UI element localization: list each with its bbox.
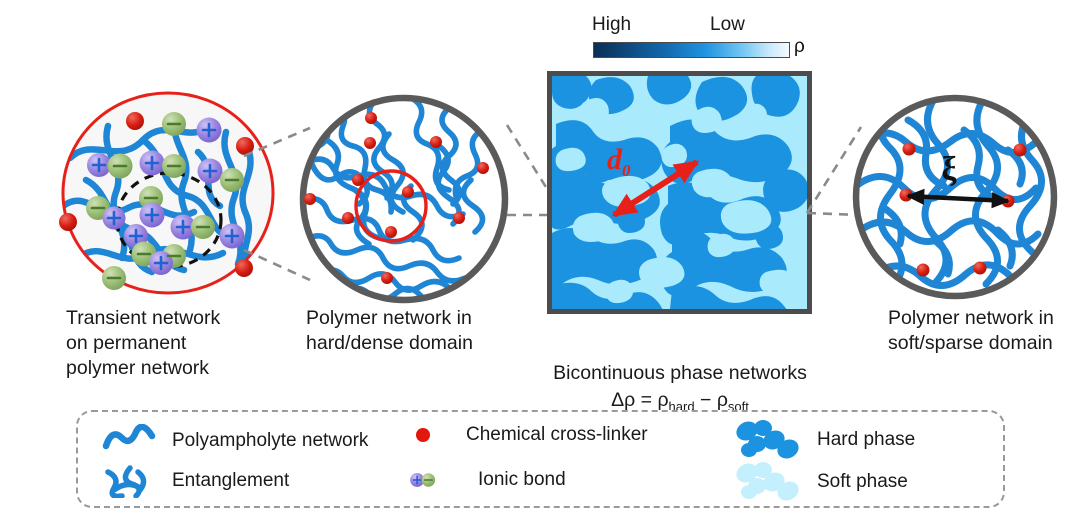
caption-transient-network: Transient network on permanent polymer n…	[66, 306, 220, 381]
legend-label-crosslinker: Chemical cross-linker	[466, 424, 648, 446]
soft-phase-blob-icon	[733, 460, 803, 504]
soft-domain-illustration: ξ	[848, 90, 1066, 308]
xi-mesh-symbol: ξ	[941, 151, 957, 188]
legend-label-ionic-bond: Ionic bond	[478, 469, 566, 491]
legend-item-entanglement: Entanglement	[100, 464, 289, 498]
legend-label-polyampholyte: Polyampholyte network	[172, 430, 368, 452]
colorbar-high-label: High	[592, 14, 631, 36]
legend-item-polyampholyte-network: Polyampholyte network	[100, 424, 368, 458]
hard-phase-blob-icon	[733, 418, 803, 462]
legend-box: Polyampholyte network Entanglement Ch	[76, 410, 1005, 508]
colorbar-rho-symbol: ρ	[794, 36, 805, 58]
panel-bicontinuous-phase	[547, 71, 812, 314]
polymer-chain-icon	[100, 424, 158, 458]
legend-label-hard-phase: Hard phase	[817, 429, 915, 451]
colorbar-low-label: Low	[710, 14, 745, 36]
diagram-canvas: High Low ρ	[0, 0, 1080, 531]
legend-item-ionic-bond: Ionic bond	[408, 464, 566, 496]
d0-distance-label: d0	[607, 143, 631, 181]
legend-item-soft-phase: Soft phase	[733, 460, 908, 504]
legend-item-chemical-cross-linker: Chemical cross-linker	[408, 424, 648, 446]
entanglement-icon	[100, 464, 158, 498]
legend-label-soft-phase: Soft phase	[817, 471, 908, 493]
panel-soft-sparse-domain: ξ	[848, 90, 1066, 308]
panel-hard-dense-domain	[293, 90, 515, 312]
legend-item-hard-phase: Hard phase	[733, 418, 915, 462]
bicontinuous-title: Bicontinuous phase networks	[553, 362, 807, 384]
ionic-bond-icon	[408, 464, 438, 496]
legend-label-entanglement: Entanglement	[172, 470, 289, 492]
caption-soft-sparse-domain: Polymer network in soft/sparse domain	[888, 306, 1054, 356]
hard-domain-illustration	[293, 90, 515, 312]
bicontinuous-phase-map	[552, 76, 807, 309]
red-dot-icon	[408, 428, 438, 442]
density-colorbar: High Low ρ	[592, 14, 807, 64]
caption-hard-dense-domain: Polymer network in hard/dense domain	[306, 306, 473, 356]
colorbar-gradient-bar	[593, 42, 790, 58]
